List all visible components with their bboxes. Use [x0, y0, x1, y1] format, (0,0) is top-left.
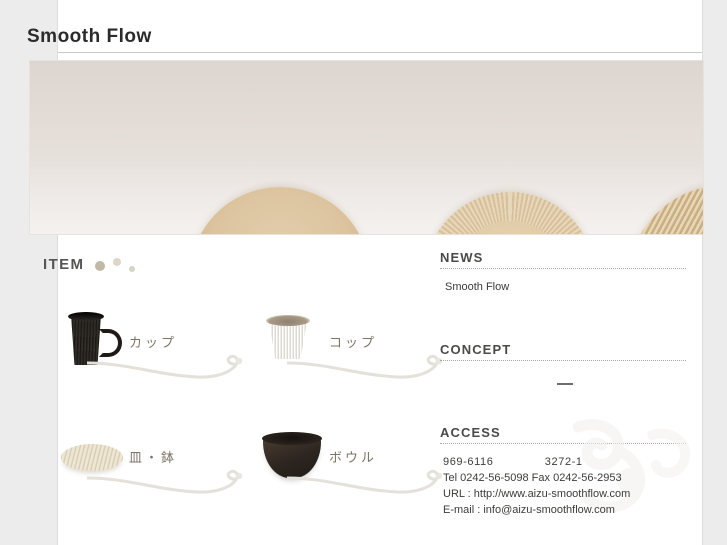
mug-icon — [55, 309, 125, 373]
sidebar: NEWS Smooth Flow CONCEPT ACCESS — [440, 250, 690, 518]
item-link-bowl[interactable]: ボウル — [243, 420, 443, 510]
item-label-plate: 皿・鉢 — [129, 447, 177, 466]
access-zip: 969-6116 — [443, 456, 493, 468]
access-heading: ACCESS — [440, 425, 690, 443]
tumbler-icon — [255, 309, 325, 373]
hero-banner — [29, 60, 704, 235]
hero-plate-right-icon — [628, 185, 704, 235]
decorative-dot-large-icon — [95, 261, 105, 271]
bowl-icon — [255, 424, 325, 488]
page-container: Smooth Flow ITEM カップ — [57, 0, 703, 545]
item-label-tumbler: コップ — [329, 332, 377, 351]
concept-section: CONCEPT — [440, 342, 690, 385]
news-item[interactable]: Smooth Flow — [440, 279, 690, 295]
item-heading-label: ITEM — [43, 256, 84, 273]
access-url-line[interactable]: URL : http://www.aizu-smoothflow.com — [443, 486, 690, 502]
access-section: ACCESS 969-6116 3272-1 Tel 0242-56-5098 … — [440, 425, 690, 518]
access-email-line[interactable]: E-mail : info@aizu-smoothflow.com — [443, 502, 690, 518]
news-section: NEWS Smooth Flow — [440, 250, 690, 295]
access-zip-line: 969-6116 3272-1 — [443, 454, 690, 470]
item-section-heading: ITEM — [43, 256, 135, 273]
concept-divider — [440, 360, 686, 361]
site-header: Smooth Flow — [58, 0, 702, 53]
hero-plate-left-icon — [190, 187, 370, 235]
access-phone-line: Tel 0242-56-5098 Fax 0242-56-2953 — [443, 470, 690, 486]
item-link-tumbler[interactable]: コップ — [243, 305, 443, 395]
item-label-cup: カップ — [129, 332, 177, 351]
item-link-plate[interactable]: 皿・鉢 — [43, 420, 243, 510]
plate-icon — [55, 424, 125, 488]
access-details: 969-6116 3272-1 Tel 0242-56-5098 Fax 024… — [440, 444, 690, 518]
item-label-bowl: ボウル — [329, 447, 377, 466]
decorative-dot-medium-icon — [113, 258, 121, 266]
news-list: Smooth Flow — [440, 269, 690, 295]
access-address-number: 3272-1 — [545, 456, 583, 468]
concept-heading: CONCEPT — [440, 342, 690, 360]
news-heading: NEWS — [440, 250, 690, 268]
page-title: Smooth Flow — [27, 26, 152, 48]
decorative-dot-small-icon — [129, 266, 135, 272]
hero-plate-center-icon — [425, 192, 595, 235]
item-link-cup[interactable]: カップ — [43, 305, 243, 395]
concept-separator-icon — [557, 383, 573, 385]
